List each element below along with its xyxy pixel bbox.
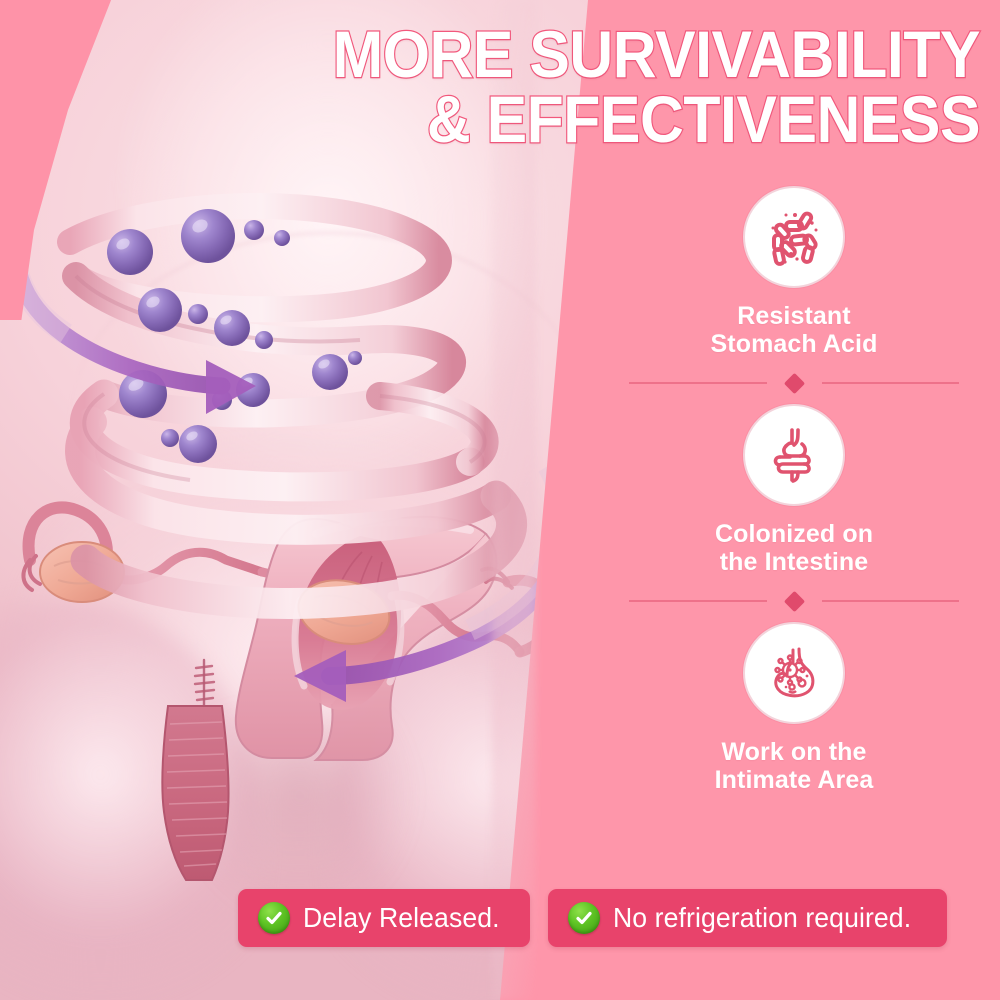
- divider-rule-left: [629, 382, 767, 384]
- divider-diamond-icon: [783, 590, 804, 611]
- feature-label: Resistant Stomach Acid: [711, 302, 878, 358]
- feature-item-intimate-area: Work on the Intimate Area: [588, 622, 1000, 794]
- stomach-germ-icon: [743, 622, 845, 724]
- bacteria-icon: [743, 186, 845, 288]
- divider: [629, 372, 959, 394]
- feature-label-line-2: Stomach Acid: [711, 330, 878, 358]
- badge-label: Delay Released.: [303, 902, 500, 934]
- infographic-canvas: MORE SURVIVABILITY & EFFECTIVENESS: [0, 0, 1000, 1000]
- divider-rule-left: [629, 600, 767, 602]
- page-title: MORE SURVIVABILITY & EFFECTIVENESS: [244, 22, 980, 151]
- badge-row: Delay Released. No refrigeration require…: [0, 888, 1000, 948]
- divider-rule-right: [822, 600, 960, 602]
- badge-label: No refrigeration required.: [613, 902, 911, 934]
- feature-label: Work on the Intimate Area: [715, 738, 874, 794]
- title-line-1: MORE SURVIVABILITY: [244, 22, 980, 87]
- green-check-icon: [258, 902, 290, 934]
- title-line-2: & EFFECTIVENESS: [244, 87, 980, 152]
- badge-no-refrigeration[interactable]: No refrigeration required.: [548, 889, 947, 947]
- divider-rule-right: [822, 382, 960, 384]
- feature-item-resistant-stomach-acid: Resistant Stomach Acid: [588, 186, 1000, 358]
- feature-label-line-1: Resistant: [737, 302, 850, 330]
- feature-item-colonized-intestine: Colonized on the Intestine: [588, 404, 1000, 576]
- feature-label-line-2: Intimate Area: [715, 766, 874, 794]
- badge-delay-released[interactable]: Delay Released.: [238, 889, 530, 947]
- feature-list: Resistant Stomach Acid: [588, 186, 1000, 886]
- feature-label-line-1: Colonized on: [715, 520, 873, 548]
- feature-label-line-2: the Intestine: [720, 548, 869, 576]
- intestine-icon: [743, 404, 845, 506]
- feature-label: Colonized on the Intestine: [715, 520, 873, 576]
- feature-label-line-1: Work on the: [721, 738, 866, 766]
- divider-diamond-icon: [783, 372, 804, 393]
- divider: [629, 590, 959, 612]
- green-check-icon: [568, 902, 600, 934]
